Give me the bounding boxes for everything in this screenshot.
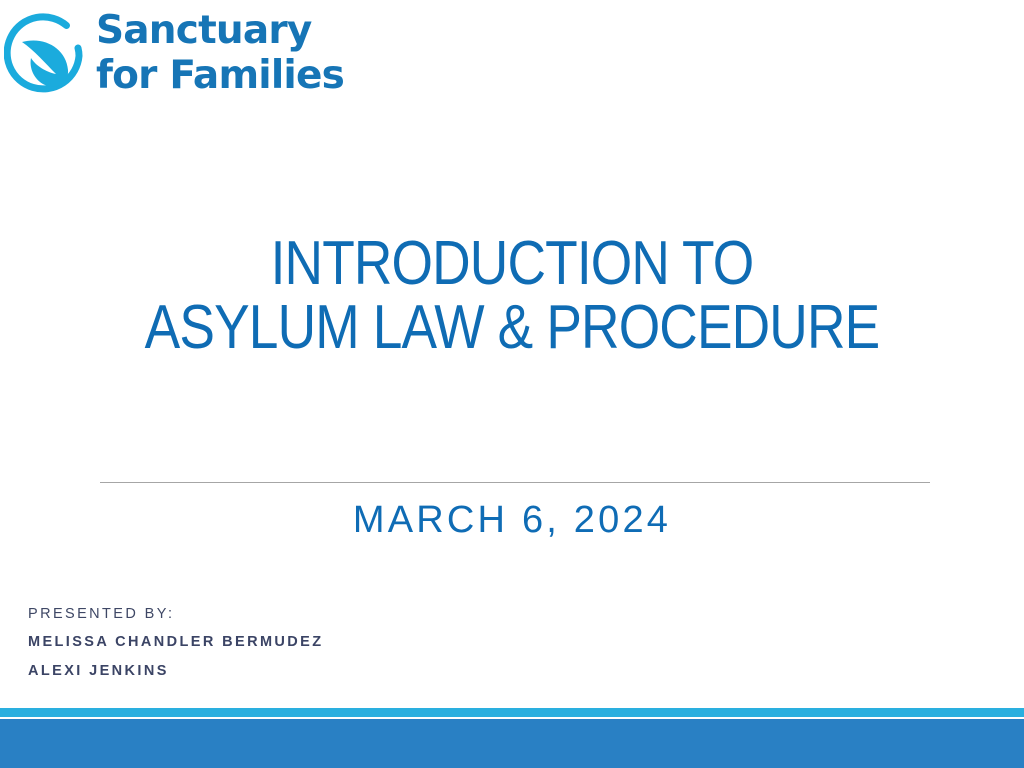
title-divider-rule	[100, 482, 930, 483]
logo-wordmark-line-1: Sanctuary	[96, 8, 376, 53]
presentation-slide: Sanctuary for Families INTRODUCTION TO A…	[0, 0, 1024, 768]
presented-by-label: PRESENTED BY:	[28, 600, 648, 628]
presenter-block: PRESENTED BY: MELISSA CHANDLER BERMUDEZ …	[28, 600, 648, 686]
footer-cyan-stripe	[0, 708, 1024, 717]
presenter-name-1: MELISSA CHANDLER BERMUDEZ	[28, 628, 648, 657]
footer-blue-bar	[0, 719, 1024, 768]
slide-title: INTRODUCTION TO ASYLUM LAW & PROCEDURE	[60, 232, 964, 360]
title-line-2: ASYLUM LAW & PROCEDURE	[123, 296, 900, 360]
sanctuary-leaf-circle-logo-icon	[4, 12, 92, 100]
presentation-date: MARCH 6, 2024	[60, 497, 964, 543]
logo-wordmark-line-2: for Families	[96, 53, 376, 98]
organization-logo: Sanctuary for Families	[0, 4, 380, 112]
title-line-1: INTRODUCTION TO	[123, 232, 900, 296]
presenter-name-2: ALEXI JENKINS	[28, 657, 648, 686]
organization-wordmark: Sanctuary for Families	[96, 8, 376, 98]
